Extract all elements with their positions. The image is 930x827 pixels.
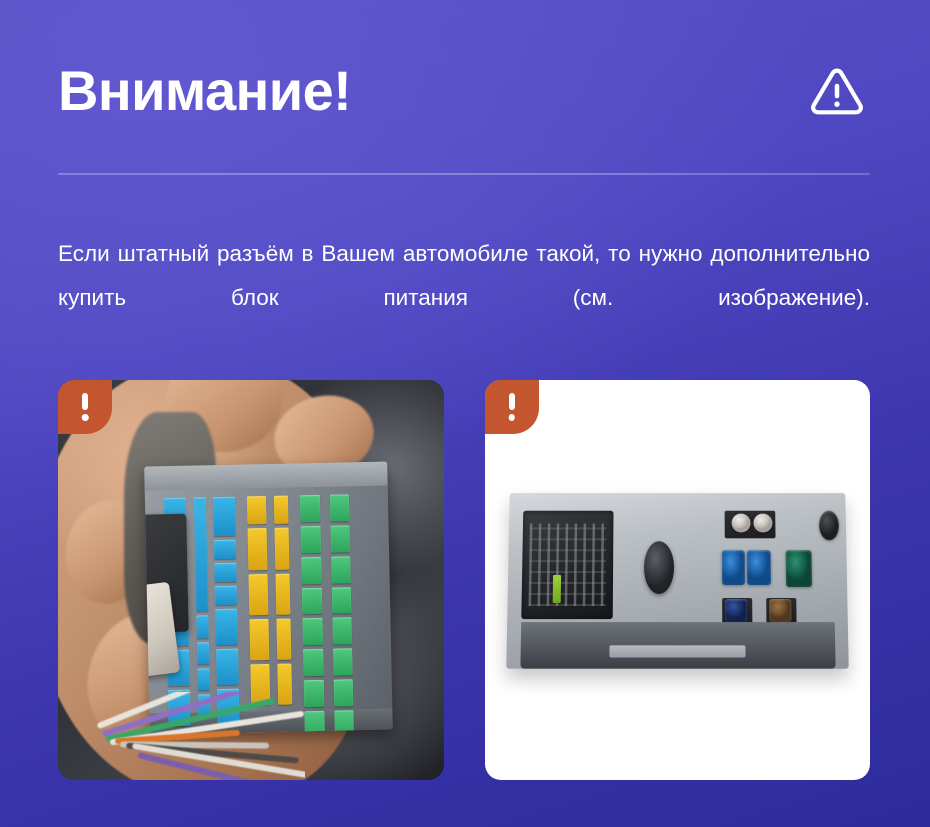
exclamation-mark-icon (82, 393, 88, 410)
page-title: Внимание! (58, 63, 351, 119)
wire-bundle (89, 692, 305, 780)
exclamation-mark-icon (509, 393, 515, 410)
notice-paragraph: Если штатный разъём в Вашем автомобиле т… (58, 232, 870, 364)
power-supply-image (508, 492, 847, 668)
card-power-supply-photo[interactable] (485, 380, 871, 780)
image-card-group (58, 380, 870, 780)
exclamation-dot (82, 414, 89, 421)
warning-badge-left (58, 380, 112, 434)
warning-badge-right (485, 380, 539, 434)
header: Внимание! (58, 52, 870, 130)
connector-photo-image (58, 380, 444, 780)
exclamation-dot (508, 414, 515, 421)
card-connector-photo[interactable] (58, 380, 444, 780)
warning-triangle-icon (808, 62, 866, 120)
header-divider (58, 173, 870, 175)
page-root: Внимание! Если штатный разъём в Вашем ав… (0, 0, 930, 827)
